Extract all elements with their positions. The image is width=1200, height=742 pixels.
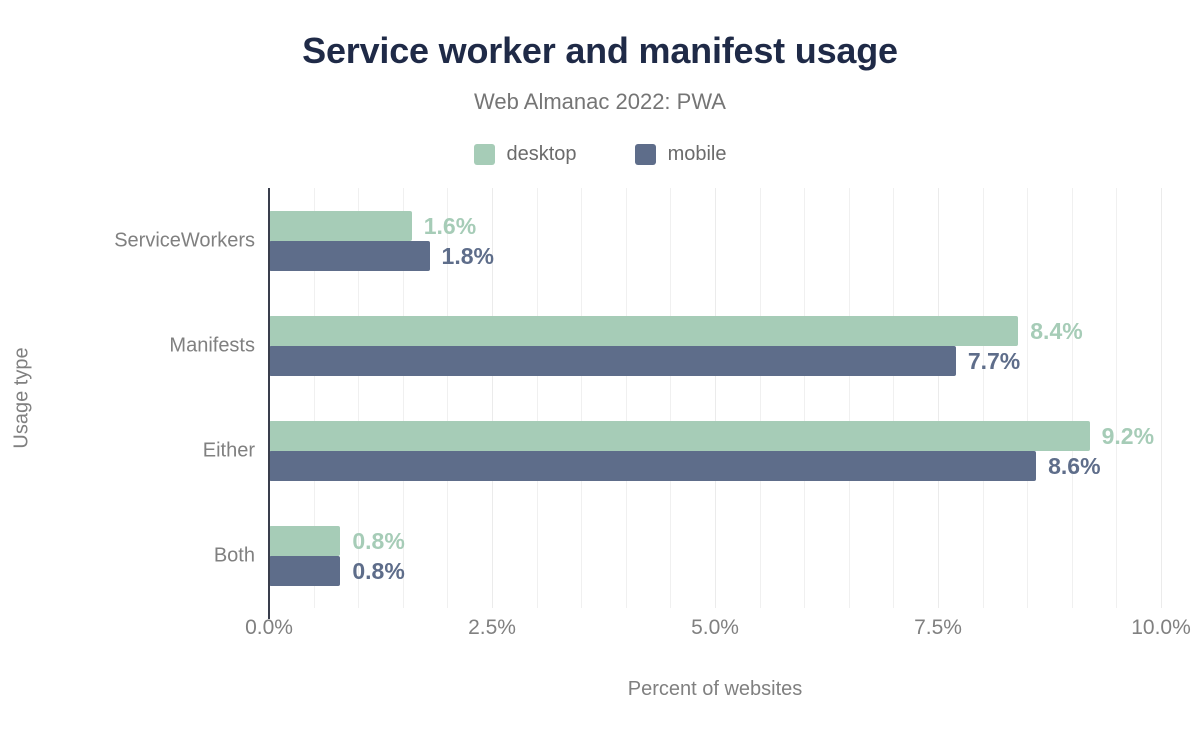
chart-legend: desktop mobile [0,143,1200,166]
bar-mobile-manifests[interactable] [269,346,956,376]
legend-swatch-mobile [635,144,656,165]
x-axis-tick-label: 5.0% [691,616,739,640]
chart-title: Service worker and manifest usage [0,30,1200,72]
bar-value-mobile-both: 0.8% [352,556,404,586]
legend-label-mobile: mobile [668,143,727,166]
bar-value-mobile-serviceworkers: 1.8% [442,241,494,271]
x-axis-tick-label: 2.5% [468,616,516,640]
x-axis-title: Percent of websites [269,678,1161,701]
bar-value-desktop-either: 9.2% [1102,421,1154,451]
y-axis-label-both: Both [15,544,255,567]
bar-desktop-either[interactable] [269,421,1090,451]
legend-item-desktop[interactable]: desktop [474,143,577,166]
gridline [1161,188,1162,608]
bar-mobile-either[interactable] [269,451,1036,481]
legend-swatch-desktop [474,144,495,165]
legend-label-desktop: desktop [507,143,577,166]
y-axis-title: Usage type [11,347,34,448]
x-axis-tick-label: 10.0% [1131,616,1191,640]
chart-container: Service worker and manifest usage Web Al… [0,0,1200,742]
bar-mobile-both[interactable] [269,556,340,586]
bar-value-mobile-either: 8.6% [1048,451,1100,481]
y-axis-label-serviceworkers: ServiceWorkers [15,229,255,252]
bar-mobile-serviceworkers[interactable] [269,241,430,271]
bar-desktop-serviceworkers[interactable] [269,211,412,241]
x-axis-tick-label: 7.5% [914,616,962,640]
bar-series-group: 1.6%1.8%8.4%7.7%9.2%8.6%0.8%0.8% [269,188,1161,608]
chart-subtitle: Web Almanac 2022: PWA [0,89,1200,115]
bar-desktop-both[interactable] [269,526,340,556]
legend-item-mobile[interactable]: mobile [635,143,727,166]
bar-desktop-manifests[interactable] [269,316,1018,346]
bar-value-desktop-serviceworkers: 1.6% [424,211,476,241]
y-axis-label-manifests: Manifests [15,334,255,357]
bar-value-mobile-manifests: 7.7% [968,346,1020,376]
x-axis-tick-label: 0.0% [245,616,293,640]
plot-area: 1.6%1.8%8.4%7.7%9.2%8.6%0.8%0.8% [269,188,1161,608]
y-axis-line [268,188,270,608]
bar-value-desktop-manifests: 8.4% [1030,316,1082,346]
bar-value-desktop-both: 0.8% [352,526,404,556]
x-axis-tick-mark [268,608,270,619]
y-axis-label-either: Either [15,439,255,462]
y-axis-category-labels: ServiceWorkersManifestsEitherBoth [0,188,255,608]
